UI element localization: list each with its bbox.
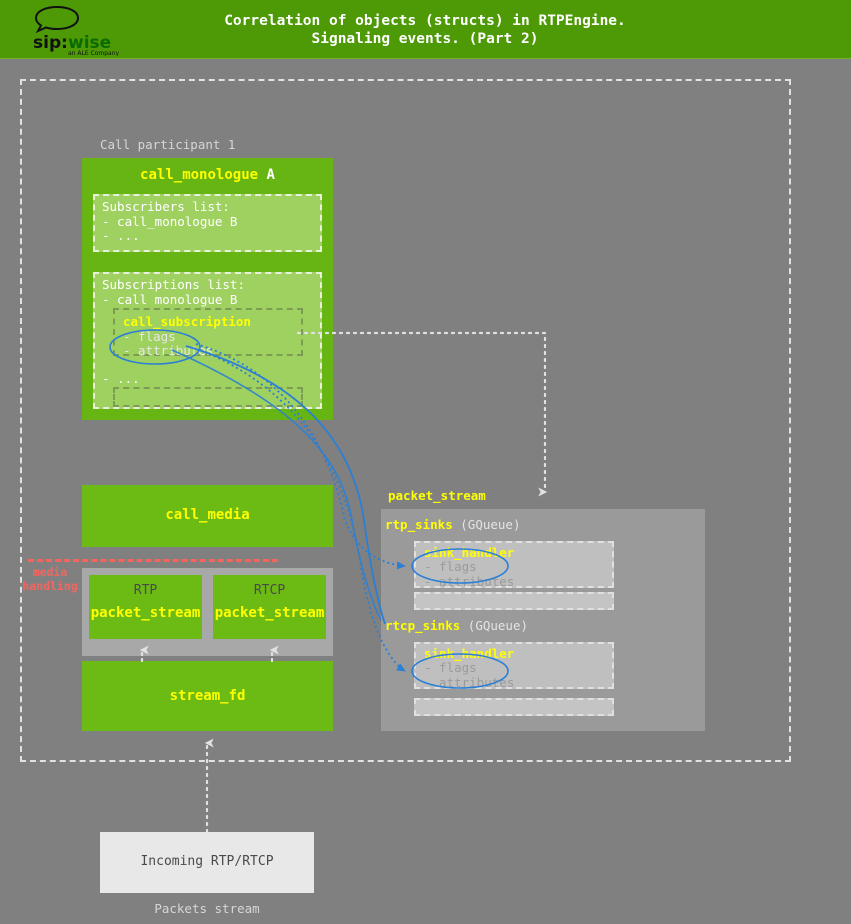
- rtp-packet-stream-box: RTP packet_stream: [89, 575, 202, 639]
- sipwise-logo: sip : wise an ALE Company: [30, 4, 126, 56]
- rtcp-sink-handler-attributes: - attributes: [424, 676, 514, 691]
- call-subscription-box-empty: [113, 387, 303, 407]
- page-title-line2: Signaling events. (Part 2): [140, 30, 710, 48]
- call-participant-label: Call participant 1: [100, 137, 235, 152]
- media-handling-label-line2: handling: [22, 579, 78, 593]
- packet-streams-container: RTP packet_stream RTCP packet_stream: [82, 568, 333, 646]
- svg-text:sip: sip: [33, 33, 61, 53]
- rtp-struct-name: packet_stream: [89, 605, 202, 621]
- rtcp-packet-stream-box: RTCP packet_stream: [213, 575, 326, 639]
- rtcp-sink-handler-title: sink_handler: [424, 646, 514, 661]
- rtp-sinks-name: rtp_sinks: [385, 517, 453, 532]
- svg-text:an ALE Company: an ALE Company: [68, 50, 120, 56]
- sipwise-logo-graphic: sip : wise an ALE Company: [30, 4, 126, 56]
- rtp-sinks-type: (GQueue): [460, 517, 520, 532]
- packet-stream-detail-container: rtp_sinks (GQueue) sink_handler - flags …: [381, 509, 705, 731]
- rtp-sink-handler-flags: - flags: [424, 560, 477, 575]
- rtcp-label: RTCP: [213, 583, 326, 598]
- page-title-line1: Correlation of objects (structs) in RTPE…: [140, 12, 710, 30]
- rtp-sink-handler-attributes: - attributes: [424, 575, 514, 590]
- call-subscription-box: call_subscription - flags - attributes: [113, 308, 303, 356]
- packet-stream-pointer-label: packet_stream: [388, 488, 486, 503]
- call-monologue-title-suffix: A: [267, 167, 275, 183]
- stream-fd-title: stream_fd: [82, 688, 333, 704]
- packets-stream-label: Packets stream: [100, 901, 314, 916]
- subscriptions-list-box: Subscriptions list: - call monologue B c…: [93, 272, 322, 409]
- media-handling-label: media handling: [22, 565, 78, 593]
- rtp-sinks-label: rtp_sinks (GQueue): [385, 517, 520, 532]
- rtp-label: RTP: [89, 583, 202, 598]
- page-title: Correlation of objects (structs) in RTPE…: [140, 12, 710, 48]
- media-handling-label-line1: media: [22, 565, 78, 579]
- rtcp-struct-name: packet_stream: [213, 605, 326, 621]
- incoming-packets-text: Incoming RTP/RTCP: [100, 854, 314, 869]
- subscribers-heading: Subscribers list:: [102, 200, 230, 215]
- rtp-sink-handler-title: sink_handler: [424, 545, 514, 560]
- call-media-title: call_media: [82, 507, 333, 523]
- packet-streams-base: [82, 646, 333, 656]
- rtcp-sinks-label: rtcp_sinks (GQueue): [385, 618, 528, 633]
- subscribers-item-1: - ...: [102, 229, 140, 244]
- svg-text::: :: [61, 33, 68, 53]
- subscriptions-ellipsis: - ...: [102, 372, 140, 387]
- rtcp-sink-handler-flags: - flags: [424, 661, 477, 676]
- stream-fd-box: stream_fd: [82, 661, 333, 731]
- subscriptions-item-0: - call monologue B: [102, 293, 237, 308]
- rtp-sink-handler-box: sink_handler - flags - attributes: [414, 541, 614, 588]
- rtcp-sink-handler-box-empty: [414, 698, 614, 716]
- incoming-packets-box: Incoming RTP/RTCP: [100, 832, 314, 893]
- rtcp-sink-handler-box: sink_handler - flags - attributes: [414, 642, 614, 689]
- call-subscription-title: call_subscription: [123, 314, 251, 329]
- subscribers-list-box: Subscribers list: - call_monologue B - .…: [93, 194, 322, 252]
- media-handling-divider: [28, 559, 278, 562]
- rtcp-sinks-name: rtcp_sinks: [385, 618, 460, 633]
- subscriptions-heading: Subscriptions list:: [102, 278, 245, 293]
- app-header: sip : wise an ALE Company Correlation of…: [0, 0, 851, 59]
- call-monologue-panel: call_monologue A Subscribers list: - cal…: [82, 158, 333, 420]
- rtp-sink-handler-box-empty: [414, 592, 614, 610]
- rtcp-sinks-type: (GQueue): [468, 618, 528, 633]
- call-media-box: call_media: [82, 485, 333, 547]
- call-subscription-attributes: - attributes: [123, 344, 213, 359]
- call-monologue-title: call_monologue A: [82, 167, 333, 183]
- call-monologue-title-text: call_monologue: [140, 167, 258, 183]
